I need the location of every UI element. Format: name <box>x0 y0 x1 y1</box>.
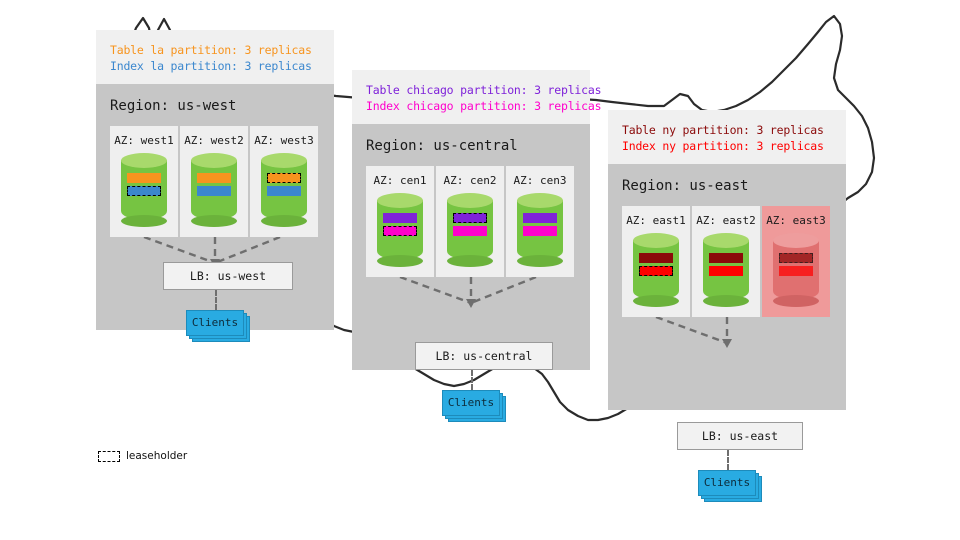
index-replica-leaseholder <box>127 186 161 196</box>
az-label: AZ: cen1 <box>366 174 434 187</box>
index-replica-leaseholder <box>639 266 673 276</box>
legend: leaseholder <box>98 450 187 462</box>
az-card-west3[interactable]: AZ: west3 <box>250 126 318 237</box>
az-strip-us-east: AZ: east1AZ: east2AZ: east3 <box>622 206 832 317</box>
cylinder-base <box>447 255 493 267</box>
replica-bars <box>267 173 301 199</box>
replica-bars <box>453 213 487 239</box>
az-strip-us-west: AZ: west1AZ: west2AZ: west3 <box>110 126 320 237</box>
node-cylinder-icon <box>517 193 563 267</box>
partition-info-line: Table chicago partition: 3 replicas <box>366 82 576 98</box>
partition-info-line: Index ny partition: 3 replicas <box>622 138 832 154</box>
az-label: AZ: west2 <box>180 134 248 147</box>
index-replica <box>453 226 487 236</box>
cylinder-base <box>703 295 749 307</box>
az-card-cen3[interactable]: AZ: cen3 <box>506 166 574 277</box>
table-replica <box>383 213 417 223</box>
cylinder-top <box>121 153 167 168</box>
cylinder-top <box>773 233 819 248</box>
az-card-cen1[interactable]: AZ: cen1 <box>366 166 436 277</box>
node-cylinder-icon <box>261 153 307 227</box>
load-balancer-us-east[interactable]: LB: us-east <box>677 422 803 450</box>
cylinder-top <box>517 193 563 208</box>
legend-label: leaseholder <box>126 450 187 462</box>
table-replica <box>709 253 743 263</box>
region-title-us-east: Region: us-east <box>608 164 846 206</box>
az-to-lb-connectors <box>622 317 832 351</box>
partition-info-line: Index chicago partition: 3 replicas <box>366 98 576 114</box>
node-cylinder-icon <box>447 193 493 267</box>
cylinder-base <box>517 255 563 267</box>
lb-to-clients-connector <box>471 370 473 390</box>
az-card-east3[interactable]: AZ: east3 <box>762 206 830 317</box>
region-header-us-central: Table chicago partition: 3 replicasIndex… <box>352 70 590 124</box>
region-title-us-west: Region: us-west <box>96 84 334 126</box>
cylinder-base <box>773 295 819 307</box>
index-replica-leaseholder <box>383 226 417 236</box>
clients-stack-us-west[interactable]: Clients <box>186 310 244 336</box>
replica-bars <box>779 253 813 279</box>
partition-info-line: Table la partition: 3 replicas <box>110 42 320 58</box>
az-label: AZ: west1 <box>110 134 178 147</box>
table-replica <box>639 253 673 263</box>
cylinder-top <box>703 233 749 248</box>
clients-label: Clients <box>442 390 500 416</box>
az-label: AZ: cen2 <box>436 174 504 187</box>
region-header-us-west: Table la partition: 3 replicasIndex la p… <box>96 30 334 84</box>
table-replica-leaseholder <box>267 173 301 183</box>
cylinder-top <box>261 153 307 168</box>
node-cylinder-icon <box>191 153 237 227</box>
clients-label: Clients <box>186 310 244 336</box>
index-replica <box>779 266 813 276</box>
cylinder-base <box>261 215 307 227</box>
node-cylinder-icon <box>377 193 423 267</box>
az-label: AZ: east1 <box>622 214 690 227</box>
table-replica-leaseholder <box>453 213 487 223</box>
cylinder-base <box>633 295 679 307</box>
region-panel-us-east: Table ny partition: 3 replicasIndex ny p… <box>608 110 846 410</box>
clients-stack-us-central[interactable]: Clients <box>442 390 500 416</box>
az-strip-us-central: AZ: cen1AZ: cen2AZ: cen3 <box>366 166 576 277</box>
load-balancer-us-central[interactable]: LB: us-central <box>415 342 553 370</box>
az-label: AZ: east3 <box>762 214 830 227</box>
region-title-us-central: Region: us-central <box>352 124 590 166</box>
replica-bars <box>523 213 557 239</box>
partition-info-line: Index la partition: 3 replicas <box>110 58 320 74</box>
replica-bars <box>197 173 231 199</box>
node-cylinder-icon <box>773 233 819 307</box>
lb-to-clients-connector <box>215 290 217 310</box>
region-header-us-east: Table ny partition: 3 replicasIndex ny p… <box>608 110 846 164</box>
node-cylinder-icon <box>703 233 749 307</box>
replica-bars <box>709 253 743 279</box>
partition-info-line: Table ny partition: 3 replicas <box>622 122 832 138</box>
lb-to-clients-connector <box>727 450 729 470</box>
table-replica <box>127 173 161 183</box>
clients-stack-us-east[interactable]: Clients <box>698 470 756 496</box>
table-replica <box>523 213 557 223</box>
cylinder-base <box>191 215 237 227</box>
az-card-east1[interactable]: AZ: east1 <box>622 206 692 317</box>
az-card-west1[interactable]: AZ: west1 <box>110 126 180 237</box>
cylinder-top <box>377 193 423 208</box>
load-balancer-us-west[interactable]: LB: us-west <box>163 262 293 290</box>
az-card-east2[interactable]: AZ: east2 <box>692 206 762 317</box>
clients-label: Clients <box>698 470 756 496</box>
az-label: AZ: east2 <box>692 214 760 227</box>
replica-bars <box>127 173 161 199</box>
table-replica-leaseholder <box>779 253 813 263</box>
region-panel-us-central: Table chicago partition: 3 replicasIndex… <box>352 70 590 370</box>
az-card-west2[interactable]: AZ: west2 <box>180 126 250 237</box>
cylinder-base <box>377 255 423 267</box>
cylinder-base <box>121 215 167 227</box>
index-replica <box>267 186 301 196</box>
az-label: AZ: west3 <box>250 134 318 147</box>
node-cylinder-icon <box>121 153 167 227</box>
replica-bars <box>639 253 673 279</box>
index-replica <box>197 186 231 196</box>
index-replica <box>709 266 743 276</box>
index-replica <box>523 226 557 236</box>
diagram-canvas: Table la partition: 3 replicasIndex la p… <box>0 0 960 540</box>
az-to-lb-connectors <box>366 277 576 311</box>
cylinder-top <box>633 233 679 248</box>
cylinder-top <box>447 193 493 208</box>
table-replica <box>197 173 231 183</box>
az-card-cen2[interactable]: AZ: cen2 <box>436 166 506 277</box>
az-label: AZ: cen3 <box>506 174 574 187</box>
node-cylinder-icon <box>633 233 679 307</box>
cylinder-top <box>191 153 237 168</box>
dashed-rectangle-icon <box>98 451 120 462</box>
replica-bars <box>383 213 417 239</box>
